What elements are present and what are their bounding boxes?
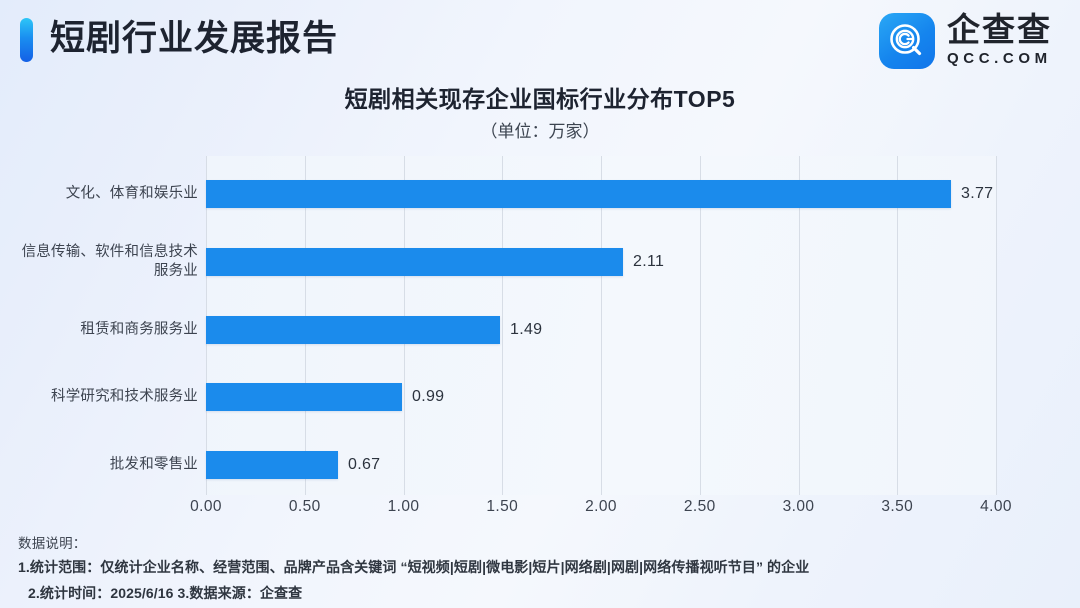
- footer-note-1: 1.统计范围：仅统计企业名称、经营范围、品牌产品含关键词 “短视频|短剧|微电影…: [18, 554, 1068, 580]
- chart-value-label: 0.67: [348, 451, 380, 479]
- chart-bar-row: 文化、体育和娱乐业3.77: [0, 180, 1080, 208]
- chart-value-label: 1.49: [510, 316, 542, 344]
- chart-bar-row: 租赁和商务服务业1.49: [0, 316, 1080, 344]
- chart-category-label: 科学研究和技术服务业: [8, 388, 198, 407]
- chart-subtitle: （单位：万家）: [0, 120, 1080, 144]
- chart-x-tick-label: 2.50: [684, 495, 716, 519]
- chart-x-tick-label: 2.00: [585, 495, 617, 519]
- chart-category-label: 租赁和商务服务业: [8, 320, 198, 339]
- chart-bar[interactable]: [206, 383, 402, 411]
- footer-heading: 数据说明：: [18, 534, 1068, 554]
- chart-title: 短剧相关现存企业国标行业分布TOP5: [0, 84, 1080, 114]
- chart-category-label: 文化、体育和娱乐业: [8, 184, 198, 203]
- footer-note-2: 2.统计时间：2025/6/16 3.数据来源：企查查: [18, 580, 1068, 606]
- qcc-magnifier-icon: [879, 13, 935, 69]
- chart-x-tick-label: 0.50: [289, 495, 321, 519]
- chart-x-axis: 0.000.501.001.502.002.503.003.504.00: [0, 495, 1080, 525]
- chart-value-label: 2.11: [633, 248, 664, 276]
- chart-value-label: 0.99: [412, 383, 444, 411]
- chart-bar[interactable]: [206, 248, 623, 276]
- page-title: 短剧行业发展报告: [50, 16, 338, 62]
- chart-category-label: 批发和零售业: [8, 456, 198, 475]
- chart-x-tick-label: 3.00: [783, 495, 815, 519]
- chart-bar[interactable]: [206, 316, 500, 344]
- chart-x-tick-label: 1.50: [486, 495, 518, 519]
- logo-text-en: QCC.COM: [947, 49, 1052, 69]
- brand-logo: 企查查 QCC.COM: [879, 12, 1052, 69]
- chart-bar[interactable]: [206, 180, 951, 208]
- chart-x-tick-label: 4.00: [980, 495, 1012, 519]
- chart-bar-row: 科学研究和技术服务业0.99: [0, 383, 1080, 411]
- chart-bar[interactable]: [206, 451, 338, 479]
- chart-x-tick-label: 3.50: [881, 495, 913, 519]
- chart-x-tick-label: 0.00: [190, 495, 222, 519]
- chart-value-label: 3.77: [961, 180, 993, 208]
- logo-text-cn: 企查查: [947, 12, 1052, 48]
- page-header: 短剧行业发展报告 企查查 QCC.COM: [0, 0, 1080, 84]
- chart-category-label: 信息传输、软件和信息技术服务业: [8, 243, 198, 281]
- chart-bar-row: 批发和零售业0.67: [0, 451, 1080, 479]
- chart-bars-group: 文化、体育和娱乐业3.77信息传输、软件和信息技术服务业2.11租赁和商务服务业…: [0, 156, 1080, 495]
- chart-x-tick-label: 1.00: [388, 495, 420, 519]
- chart-bar-row: 信息传输、软件和信息技术服务业2.11: [0, 248, 1080, 276]
- header-accent-bar: [20, 18, 33, 62]
- footer-notes: 数据说明： 1.统计范围：仅统计企业名称、经营范围、品牌产品含关键词 “短视频|…: [18, 534, 1068, 606]
